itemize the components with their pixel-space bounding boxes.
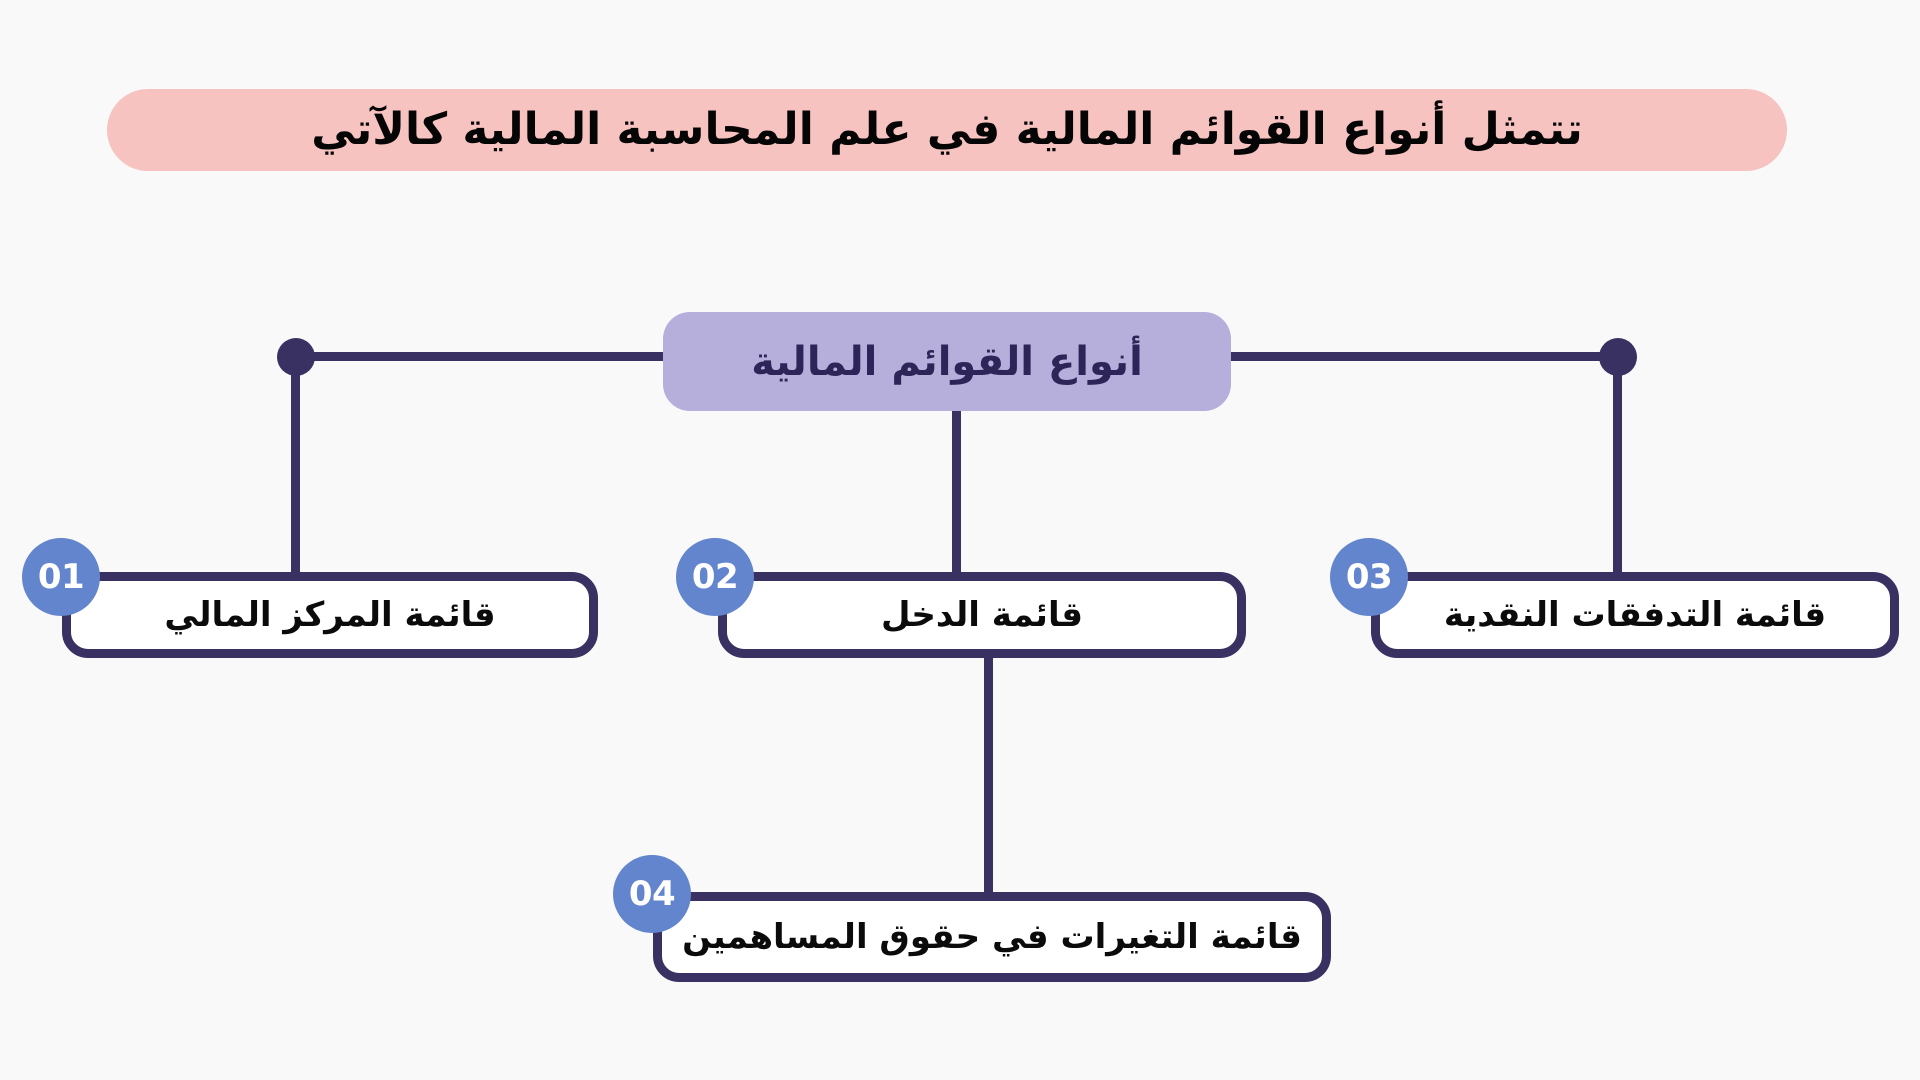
- item-badge-2: 02: [676, 538, 754, 616]
- connector-dot-right: [1599, 338, 1637, 376]
- item-card-1-label: قائمة المركز المالي: [146, 595, 513, 635]
- item-badge-1-number: 01: [38, 557, 84, 597]
- item-card-3-label: قائمة التدفقات النقدية: [1426, 595, 1844, 635]
- infographic-canvas: تتمثل أنواع القوائم المالية في علم المحا…: [0, 0, 1920, 1080]
- connector-drop-card-4: [984, 655, 993, 898]
- connector-dot-left: [277, 338, 315, 376]
- item-card-1[interactable]: قائمة المركز المالي: [62, 572, 598, 658]
- root-node[interactable]: أنواع القوائم المالية: [663, 312, 1231, 411]
- connector-drop-card-1: [291, 352, 300, 577]
- item-card-4-label: قائمة التغيرات في حقوق المساهمين: [664, 917, 1320, 957]
- title-banner: تتمثل أنواع القوائم المالية في علم المحا…: [107, 89, 1787, 171]
- item-card-3[interactable]: قائمة التدفقات النقدية: [1371, 572, 1899, 658]
- item-badge-1: 01: [22, 538, 100, 616]
- connector-root-right: [1226, 352, 1615, 361]
- connector-drop-card-3: [1613, 352, 1622, 577]
- item-card-2-label: قائمة الدخل: [863, 595, 1101, 635]
- item-badge-3: 03: [1330, 538, 1408, 616]
- item-card-2[interactable]: قائمة الدخل: [718, 572, 1246, 658]
- item-badge-4: 04: [613, 855, 691, 933]
- connector-drop-card-2: [952, 408, 961, 577]
- connector-root-left: [296, 352, 676, 361]
- item-badge-4-number: 04: [629, 874, 675, 914]
- item-badge-2-number: 02: [692, 557, 738, 597]
- page-title: تتمثل أنواع القوائم المالية في علم المحا…: [311, 107, 1583, 153]
- item-card-4[interactable]: قائمة التغيرات في حقوق المساهمين: [653, 892, 1331, 982]
- item-badge-3-number: 03: [1346, 557, 1392, 597]
- root-node-label: أنواع القوائم المالية: [751, 339, 1143, 385]
